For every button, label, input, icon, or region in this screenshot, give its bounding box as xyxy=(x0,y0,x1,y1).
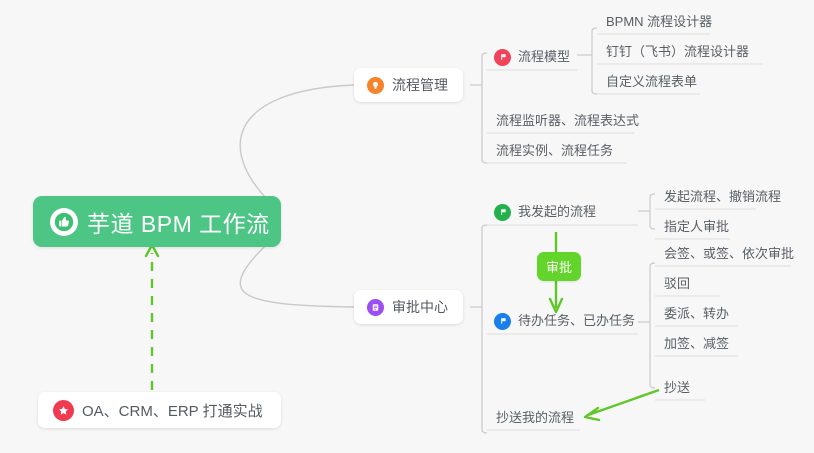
leaf-cc[interactable]: 抄送 xyxy=(657,377,697,401)
branch-label-approval-center: 审批中心 xyxy=(392,297,448,317)
leaf-todo-done-tasks[interactable]: 待办任务、已办任务 xyxy=(489,310,642,334)
leaf-assignee-approve[interactable]: 指定人审批 xyxy=(657,216,736,240)
leaf-custom-form[interactable]: 自定义流程表单 xyxy=(599,71,704,95)
wire-root-to-process xyxy=(240,85,354,213)
mindmap-canvas: 芋道 BPM 工作流 流程管理 审批中心 OA xyxy=(0,0,814,453)
leaf-dingtalk-designer[interactable]: 钉钉（飞书）流程设计器 xyxy=(599,41,756,65)
flag-icon-blue xyxy=(494,313,511,330)
leaf-process-listener[interactable]: 流程监听器、流程表达式 xyxy=(489,110,646,134)
root-label: 芋道 BPM 工作流 xyxy=(87,205,270,239)
leaf-countersign[interactable]: 会签、或签、依次审批 xyxy=(657,243,801,267)
document-icon xyxy=(367,299,384,316)
branch-label-process-management: 流程管理 xyxy=(392,75,448,95)
leaf-label: 流程模型 xyxy=(518,46,570,68)
branch-node-process-management[interactable]: 流程管理 xyxy=(354,68,463,102)
branch-node-approval-center[interactable]: 审批中心 xyxy=(354,290,463,324)
root-node[interactable]: 芋道 BPM 工作流 xyxy=(33,196,281,247)
approval-annotation-chip: 审批 xyxy=(537,252,581,281)
leaf-label: 待办任务、已办任务 xyxy=(518,310,635,332)
flag-icon-red xyxy=(494,49,511,66)
star-icon xyxy=(53,400,74,421)
leaf-add-remove-sign[interactable]: 加签、减签 xyxy=(657,333,736,357)
integration-node[interactable]: OA、CRM、ERP 打通实战 xyxy=(38,392,281,428)
lightbulb-icon xyxy=(367,77,384,94)
thumbs-up-icon xyxy=(50,208,78,236)
leaf-my-initiated-process[interactable]: 我发起的流程 xyxy=(489,201,603,225)
leaf-cc-to-me-process[interactable]: 抄送我的流程 xyxy=(489,407,581,431)
flag-icon-green xyxy=(494,204,511,221)
arrowhead-cc-link xyxy=(585,408,599,420)
arrow-cc-link xyxy=(588,390,659,415)
leaf-label: 我发起的流程 xyxy=(518,201,596,223)
leaf-bpmn-designer[interactable]: BPMN 流程设计器 xyxy=(599,11,719,35)
leaf-reject[interactable]: 驳回 xyxy=(657,273,697,297)
leaf-process-model[interactable]: 流程模型 xyxy=(489,46,577,70)
leaf-delegate-transfer[interactable]: 委派、转办 xyxy=(657,303,736,327)
leaf-process-instance[interactable]: 流程实例、流程任务 xyxy=(489,140,620,164)
leaf-start-revoke-process[interactable]: 发起流程、撤销流程 xyxy=(657,186,788,210)
integration-node-label: OA、CRM、ERP 打通实战 xyxy=(82,400,263,421)
